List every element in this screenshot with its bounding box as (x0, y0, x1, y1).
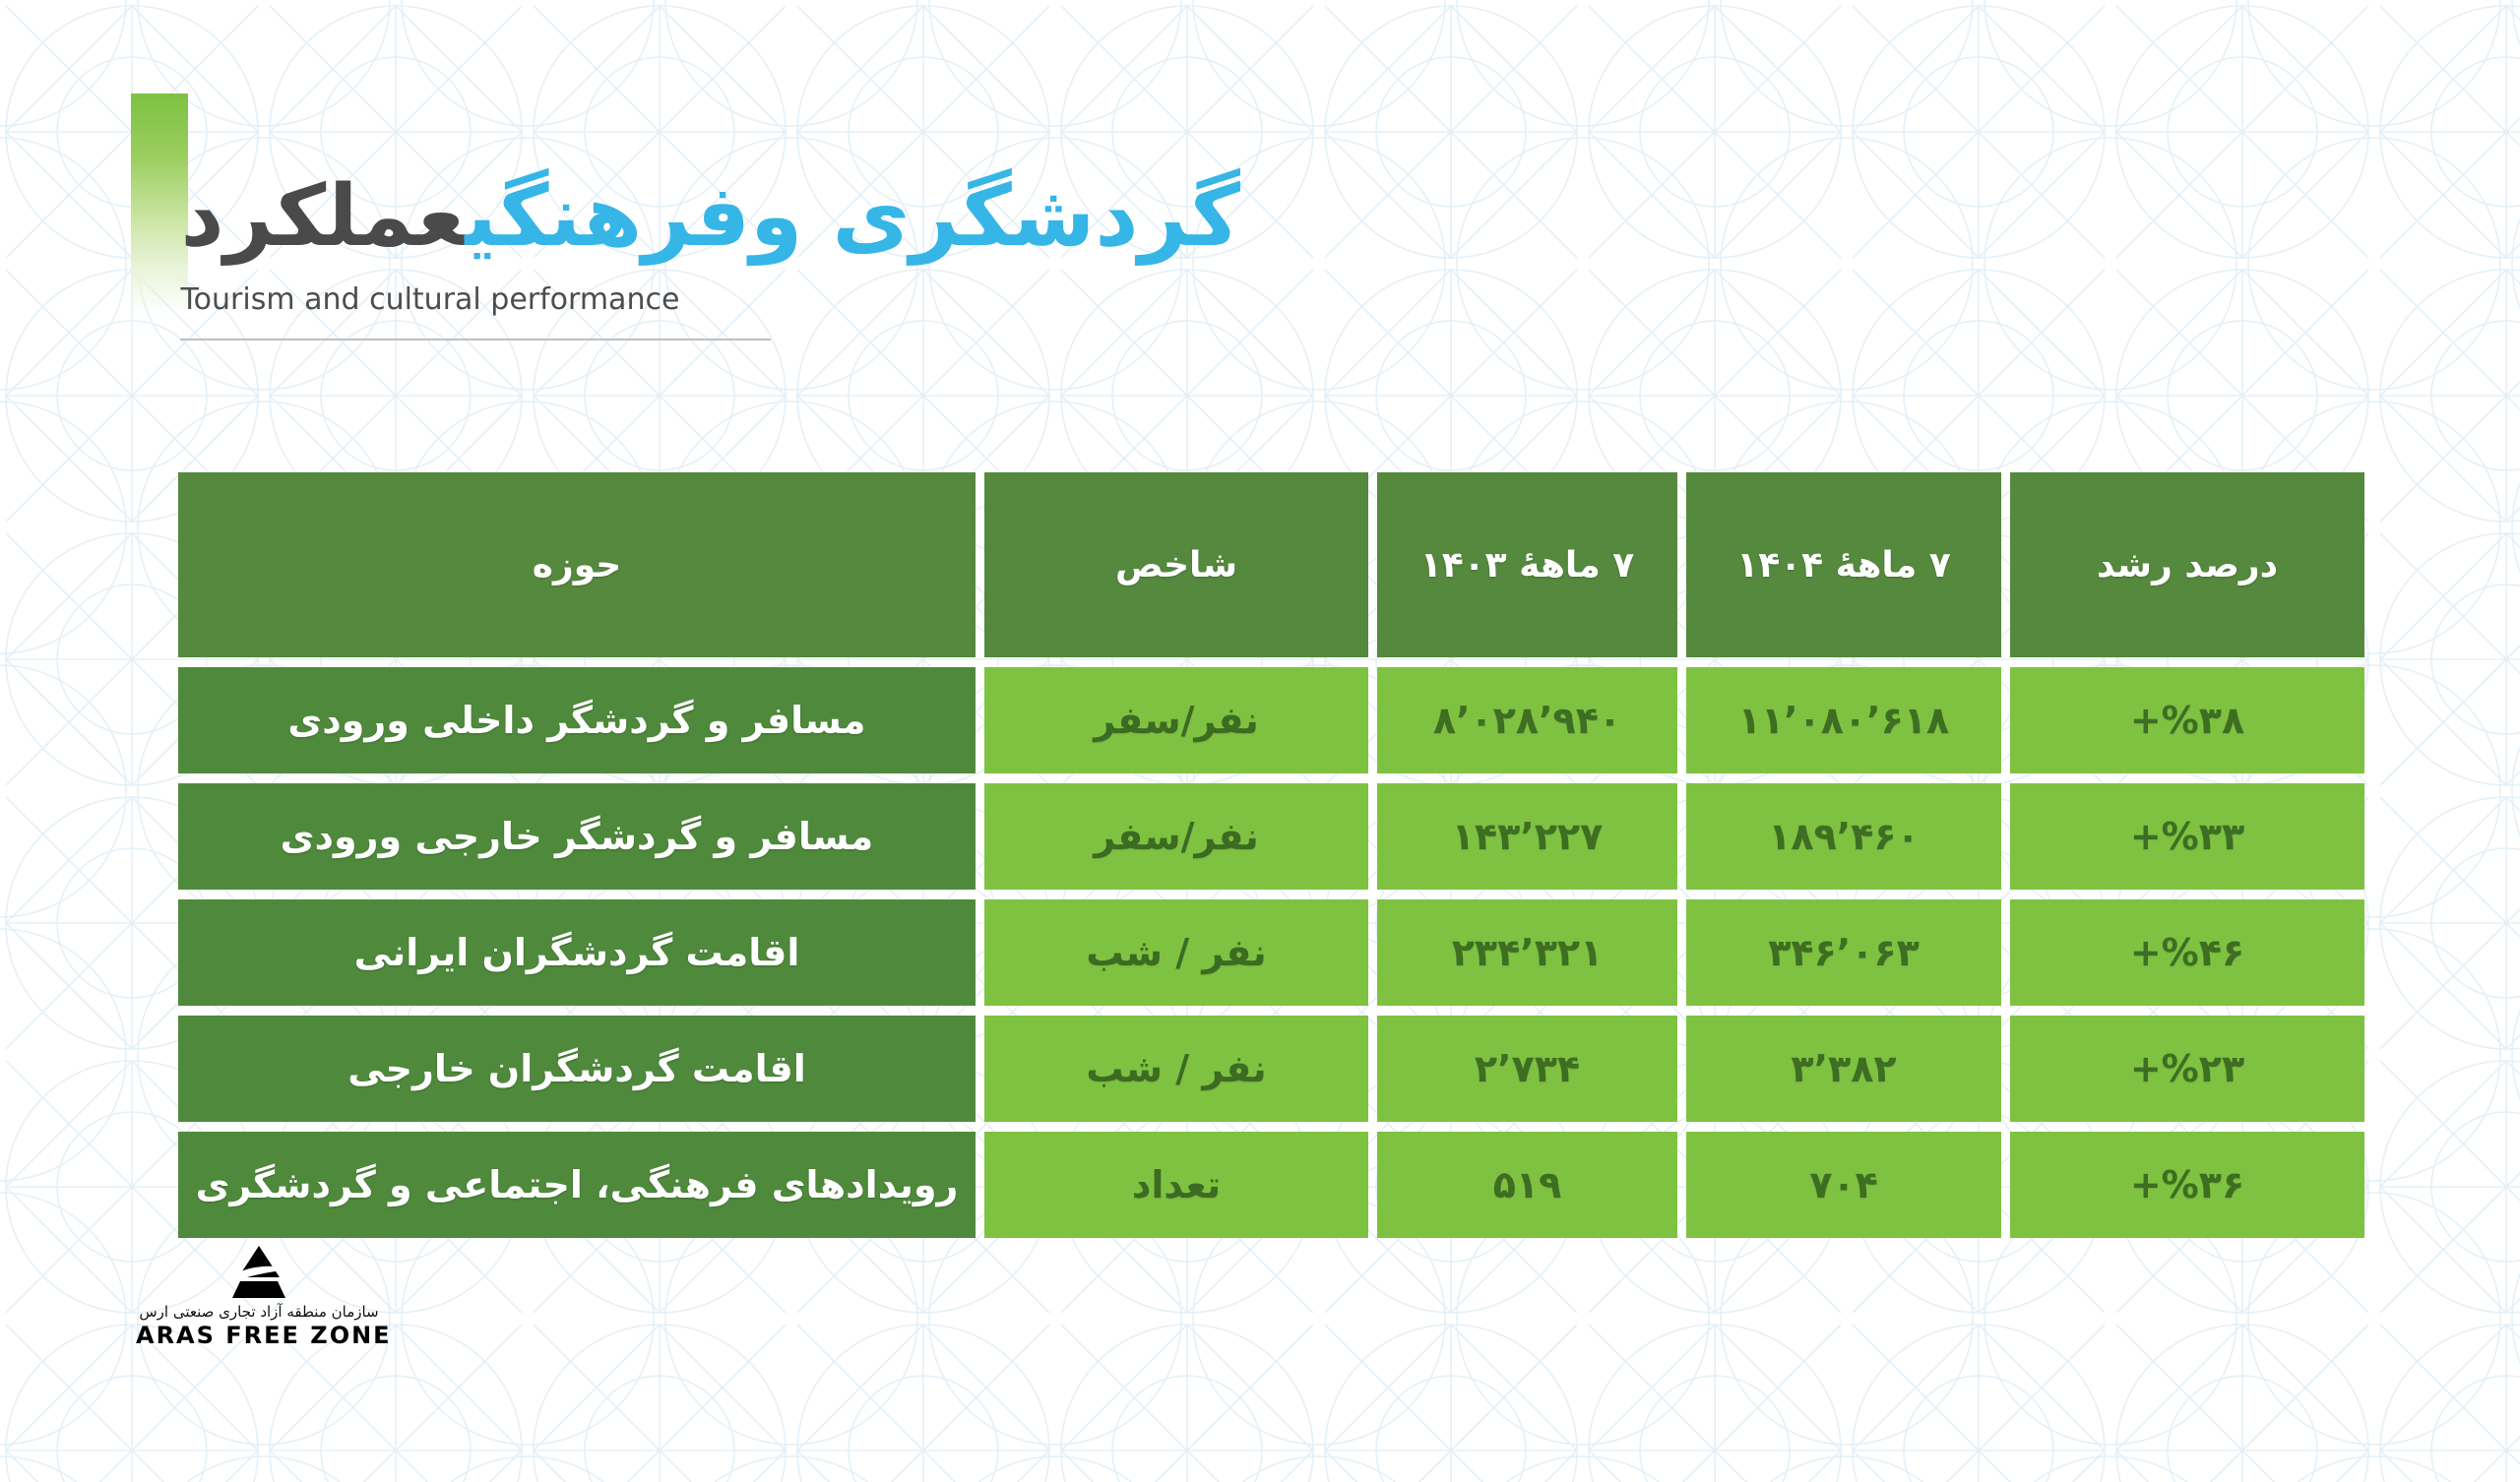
slide-canvas: گردشگری وفرهنگیعملکرد Tourism and cultur… (0, 0, 2520, 1482)
cell-y1403: ۵۱۹ (1377, 1132, 1677, 1238)
logo-persian-name: سازمان منطقه آزاد تجاری صنعتی ارس (136, 1303, 382, 1321)
page-title-dark: عملکرد (180, 167, 465, 266)
logo-english-name: ARAS FREE ZONE (136, 1322, 382, 1349)
cell-growth: +%۲۳ (2010, 1016, 2364, 1122)
cell-domain: مسافر و گردشگر خارجی ورودی (178, 783, 976, 890)
cell-domain: اقامت گردشگران ایرانی (178, 899, 976, 1006)
cell-y1404: ۷۰۴ (1686, 1132, 2001, 1238)
table-row: +%۴۶ ۳۴۶٬۰۶۳ ۲۳۴٬۳۲۱ نفر / شب اقامت گردش… (178, 899, 2364, 1006)
cell-growth: +%۳۳ (2010, 783, 2364, 890)
title-divider (180, 339, 771, 340)
column-header-y1403: ۷ ماههٔ ۱۴۰۳ (1377, 472, 1677, 657)
cell-y1403: ۲۳۴٬۳۲۱ (1377, 899, 1677, 1006)
cell-growth: +%۴۶ (2010, 899, 2364, 1006)
cell-y1403: ۲٬۷۳۴ (1377, 1016, 1677, 1122)
cell-y1404: ۱۸۹٬۴۶۰ (1686, 783, 2001, 890)
cell-metric: نفر / شب (984, 899, 1368, 1006)
cell-y1403: ۸٬۰۲۸٬۹۴۰ (1377, 667, 1677, 773)
cell-domain: رویدادهای فرهنگی، اجتماعی و گردشگری (178, 1132, 976, 1238)
column-header-growth: درصد رشد (2010, 472, 2364, 657)
cell-metric: تعداد (984, 1132, 1368, 1238)
page-title: گردشگری وفرهنگیعملکرد (180, 172, 1240, 261)
cell-metric: نفر / شب (984, 1016, 1368, 1122)
mountain-swoosh-icon (220, 1244, 297, 1301)
column-header-metric: شاخص (984, 472, 1368, 657)
cell-domain: مسافر و گردشگر داخلی ورودی (178, 667, 976, 773)
table-row: +%۳۸ ۱۱٬۰۸۰٬۶۱۸ ۸٬۰۲۸٬۹۴۰ نفر/سفر مسافر … (178, 667, 2364, 773)
page-subtitle: Tourism and cultural performance (180, 282, 1240, 317)
cell-growth: +%۳۶ (2010, 1132, 2364, 1238)
column-header-domain: حوزه (178, 472, 976, 657)
performance-table: درصد رشد ۷ ماههٔ ۱۴۰۴ ۷ ماههٔ ۱۴۰۳ شاخص … (169, 463, 2373, 1248)
column-header-y1404: ۷ ماههٔ ۱۴۰۴ (1686, 472, 2001, 657)
accent-bar (131, 93, 188, 315)
cell-y1403: ۱۴۳٬۲۲۷ (1377, 783, 1677, 890)
table-row: +%۲۳ ۳٬۳۸۲ ۲٬۷۳۴ نفر / شب اقامت گردشگران… (178, 1016, 2364, 1122)
cell-y1404: ۱۱٬۰۸۰٬۶۱۸ (1686, 667, 2001, 773)
title-block: گردشگری وفرهنگیعملکرد Tourism and cultur… (180, 172, 1240, 340)
table-header-row: درصد رشد ۷ ماههٔ ۱۴۰۴ ۷ ماههٔ ۱۴۰۳ شاخص … (178, 472, 2364, 657)
cell-metric: نفر/سفر (984, 783, 1368, 890)
table-row: +%۳۳ ۱۸۹٬۴۶۰ ۱۴۳٬۲۲۷ نفر/سفر مسافر و گرد… (178, 783, 2364, 890)
cell-y1404: ۳٬۳۸۲ (1686, 1016, 2001, 1122)
page-title-cyan: گردشگری وفرهنگی (465, 167, 1240, 266)
logo: سازمان منطقه آزاد تجاری صنعتی ارس ARAS F… (136, 1244, 382, 1349)
cell-metric: نفر/سفر (984, 667, 1368, 773)
cell-growth: +%۳۸ (2010, 667, 2364, 773)
cell-y1404: ۳۴۶٬۰۶۳ (1686, 899, 2001, 1006)
table-row: +%۳۶ ۷۰۴ ۵۱۹ تعداد رویدادهای فرهنگی، اجت… (178, 1132, 2364, 1238)
cell-domain: اقامت گردشگران خارجی (178, 1016, 976, 1122)
